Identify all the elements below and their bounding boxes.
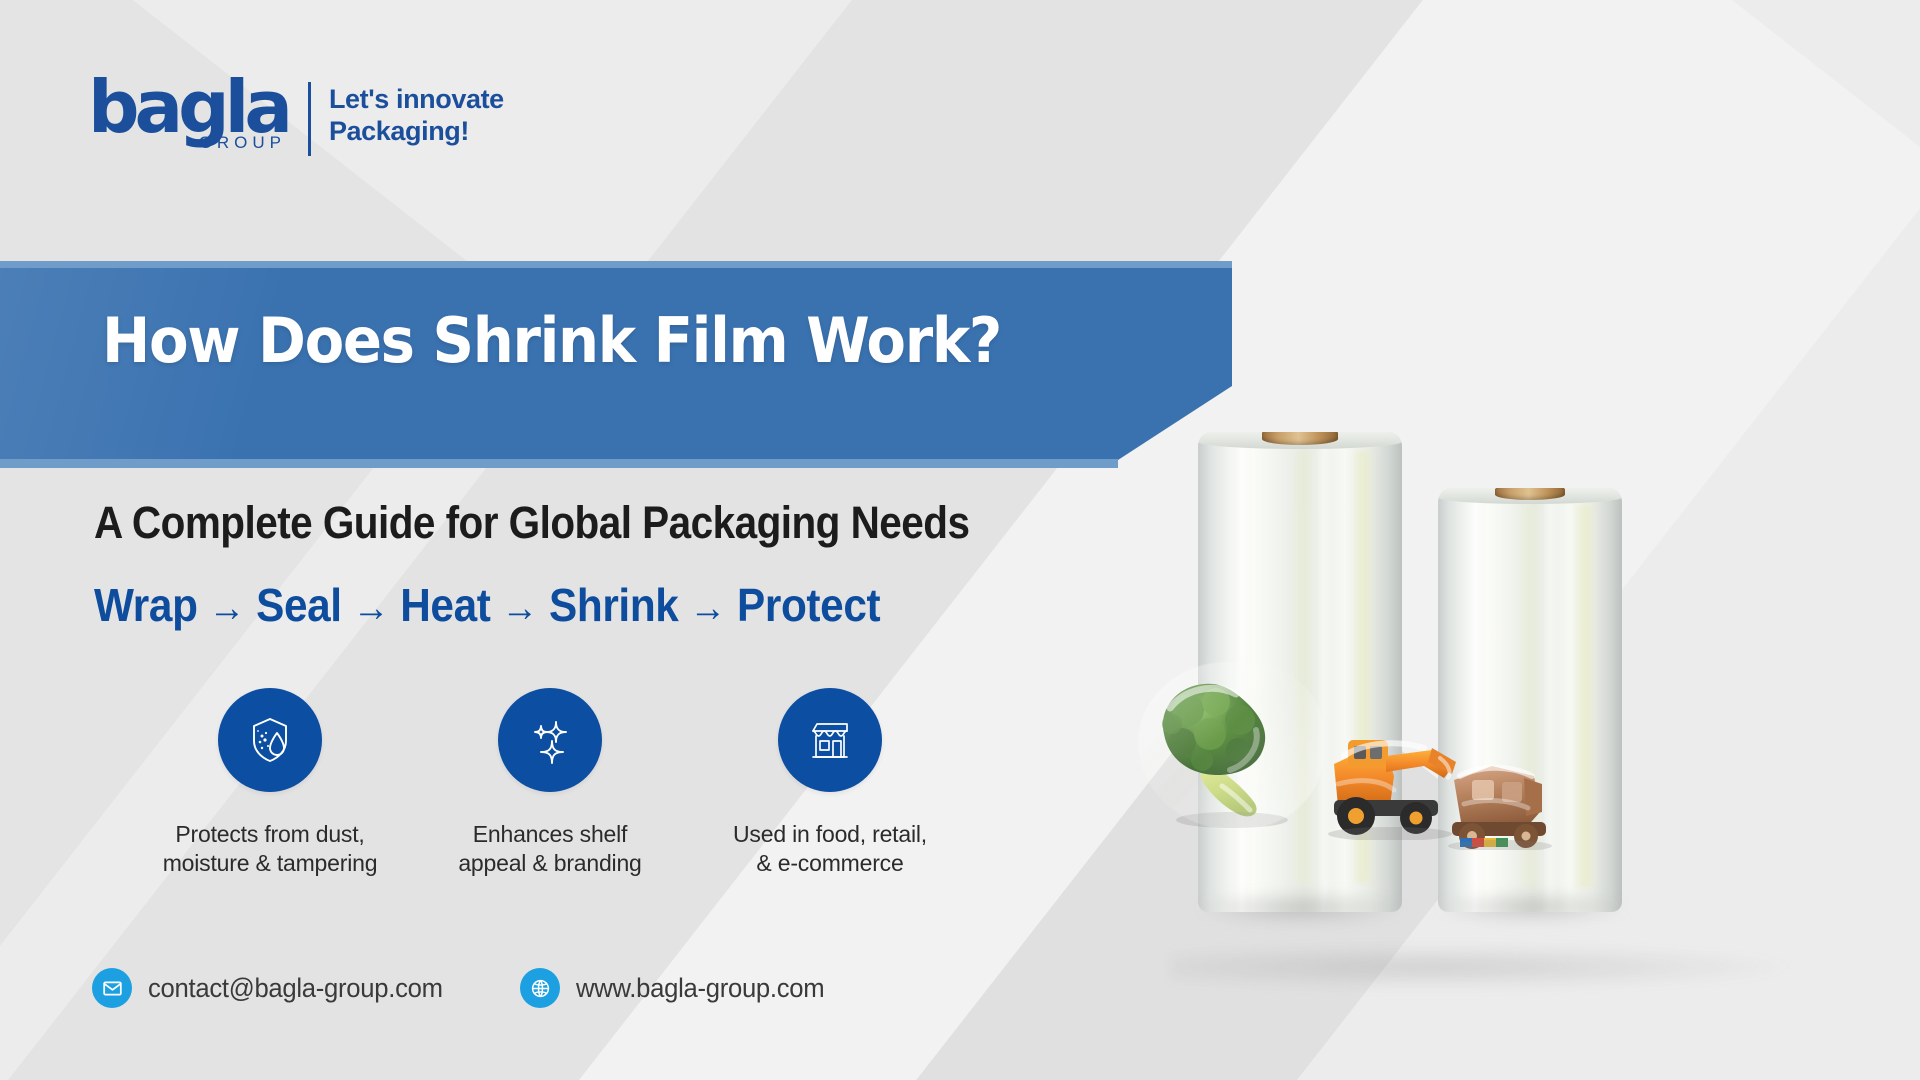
storefront-icon <box>778 688 882 792</box>
wrapped-wooden-toy <box>1438 750 1566 850</box>
logo-wordmark: bagla <box>88 78 288 137</box>
globe-icon <box>520 968 560 1008</box>
feature-item-shelf-appeal[interactable]: Enhances shelf appeal & branding <box>410 688 690 879</box>
email-address: contact@bagla-group.com <box>148 973 443 1004</box>
website-url: www.bagla-group.com <box>576 973 824 1004</box>
product-ground-shadow <box>1170 944 1790 990</box>
process-arrow-icon-3: → <box>490 586 549 630</box>
process-arrow-icon-1: → <box>198 586 257 630</box>
roll-core-large <box>1262 432 1338 445</box>
logo-mark: bagla GROUP <box>88 78 288 153</box>
feature-list: Protects from dust, moisture & tampering… <box>130 688 970 879</box>
process-arrow-icon-4: → <box>678 586 737 630</box>
process-arrow-icon-2: → <box>342 586 401 630</box>
process-step-wrap: Wrap <box>94 579 198 631</box>
roll-core-small <box>1495 488 1565 500</box>
feature-caption: Enhances shelf appeal & branding <box>458 820 641 879</box>
sparkle-icon <box>498 688 602 792</box>
brand-logo[interactable]: bagla GROUP Let's innovate Packaging! <box>88 78 504 156</box>
headline-banner: How Does Shrink Film Work? <box>0 268 1240 460</box>
process-step-protect: Protect <box>737 579 880 631</box>
product-photo <box>1150 420 1850 1000</box>
process-flow: Wrap→Seal→Heat→Shrink→Protect <box>94 578 880 632</box>
shield-droplet-icon <box>218 688 322 792</box>
logo-tagline-line1: Let's innovate <box>329 84 504 116</box>
banner-top-edge <box>0 261 1232 269</box>
feature-item-applications[interactable]: Used in food, retail, & e-commerce <box>690 688 970 879</box>
feature-caption: Used in food, retail, & e-commerce <box>733 820 927 879</box>
feature-caption: Protects from dust, moisture & tampering <box>163 820 378 879</box>
logo-tagline-line2: Packaging! <box>329 116 504 148</box>
footer-contacts: contact@bagla-group.com www.bagla-group.… <box>92 968 838 1008</box>
page-title: How Does Shrink Film Work? <box>102 304 1001 377</box>
banner-bottom-edge <box>0 459 1118 468</box>
process-step-shrink: Shrink <box>549 579 678 631</box>
envelope-icon <box>92 968 132 1008</box>
roll-shadow-large <box>1194 890 1408 926</box>
process-step-heat: Heat <box>400 579 490 631</box>
wrapped-broccoli <box>1144 668 1320 828</box>
roll-shadow-small <box>1434 890 1630 924</box>
shrink-wrap-overlay <box>1138 662 1324 830</box>
contact-website[interactable]: www.bagla-group.com <box>520 968 837 1008</box>
contact-email[interactable]: contact@bagla-group.com <box>92 968 458 1008</box>
subtitle: A Complete Guide for Global Packaging Ne… <box>94 497 969 549</box>
logo-divider <box>308 82 311 156</box>
process-step-seal: Seal <box>256 579 342 631</box>
logo-tagline: Let's innovate Packaging! <box>329 84 504 148</box>
feature-item-protection[interactable]: Protects from dust, moisture & tampering <box>130 688 410 879</box>
